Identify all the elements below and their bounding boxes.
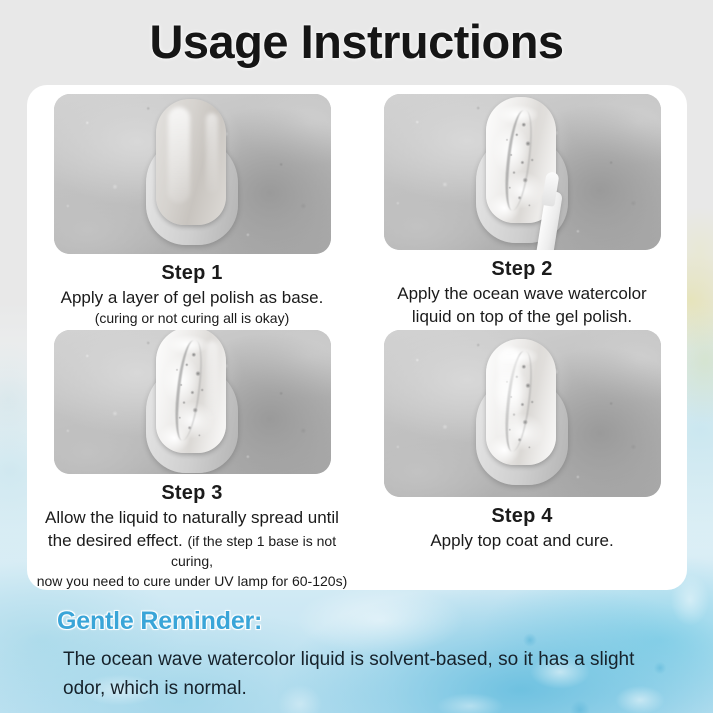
- step-3-line-2-main: the desired effect.: [48, 531, 183, 550]
- step-cell-2: Step 2 Apply the ocean wave watercolor l…: [357, 85, 687, 327]
- nail-gloss-highlight-secondary: [206, 341, 218, 421]
- nail-plate: [486, 339, 556, 465]
- gentle-reminder-title: Gentle Reminder:: [57, 607, 677, 636]
- steps-card: Step 1 Apply a layer of gel polish as ba…: [27, 85, 687, 590]
- step-3-line-3: now you need to cure under UV lamp for 6…: [27, 572, 357, 590]
- step-1-line-2: (curing or not curing all is okay): [27, 309, 357, 327]
- step-3-line-2: the desired effect. (if the step 1 base …: [27, 531, 357, 571]
- gentle-reminder-section: Gentle Reminder: The ocean wave watercol…: [57, 607, 677, 703]
- nail-gloss-highlight: [168, 107, 190, 203]
- usage-instructions-page: Usage Instructions Ste: [0, 0, 713, 713]
- steps-grid: Step 1 Apply a layer of gel polish as ba…: [27, 85, 687, 590]
- nail-gloss-highlight: [498, 347, 520, 443]
- step-2-photo: [384, 94, 661, 250]
- step-3-caption: Step 3 Allow the liquid to naturally spr…: [27, 474, 357, 590]
- finger-illustration: [144, 99, 240, 249]
- step-4-line-1: Apply top coat and cure.: [357, 531, 687, 551]
- step-cell-3: Step 3 Allow the liquid to naturally spr…: [27, 327, 357, 590]
- finger-illustration: [144, 330, 240, 474]
- finger-illustration: [474, 339, 570, 489]
- nail-plate: [156, 330, 226, 453]
- step-2-title: Step 2: [357, 258, 687, 281]
- step-cell-4: Step 4 Apply top coat and cure.: [357, 327, 687, 590]
- step-2-line-2: liquid on top of the gel polish.: [357, 307, 687, 327]
- step-1-photo: [54, 94, 331, 254]
- step-3-photo: [54, 330, 331, 474]
- gentle-reminder-body: The ocean wave watercolor liquid is solv…: [63, 645, 677, 703]
- step-3-title: Step 3: [27, 482, 357, 505]
- step-cell-1: Step 1 Apply a layer of gel polish as ba…: [27, 85, 357, 327]
- nail-gloss-highlight-secondary: [206, 113, 218, 193]
- step-4-photo: [384, 330, 661, 497]
- nail-plate: [156, 99, 226, 225]
- step-1-line-1: Apply a layer of gel polish as base.: [27, 288, 357, 308]
- step-3-line-2-note: (if the step 1 base is not curing,: [171, 533, 336, 569]
- step-4-title: Step 4: [357, 505, 687, 528]
- step-1-caption: Step 1 Apply a layer of gel polish as ba…: [27, 254, 357, 327]
- page-title: Usage Instructions: [0, 14, 713, 69]
- step-1-title: Step 1: [27, 262, 357, 285]
- step-2-line-1: Apply the ocean wave watercolor: [357, 284, 687, 304]
- step-2-caption: Step 2 Apply the ocean wave watercolor l…: [357, 250, 687, 327]
- step-3-line-1: Allow the liquid to naturally spread unt…: [27, 508, 357, 528]
- watercolor-marble-pattern: [486, 339, 556, 465]
- step-4-caption: Step 4 Apply top coat and cure.: [357, 497, 687, 551]
